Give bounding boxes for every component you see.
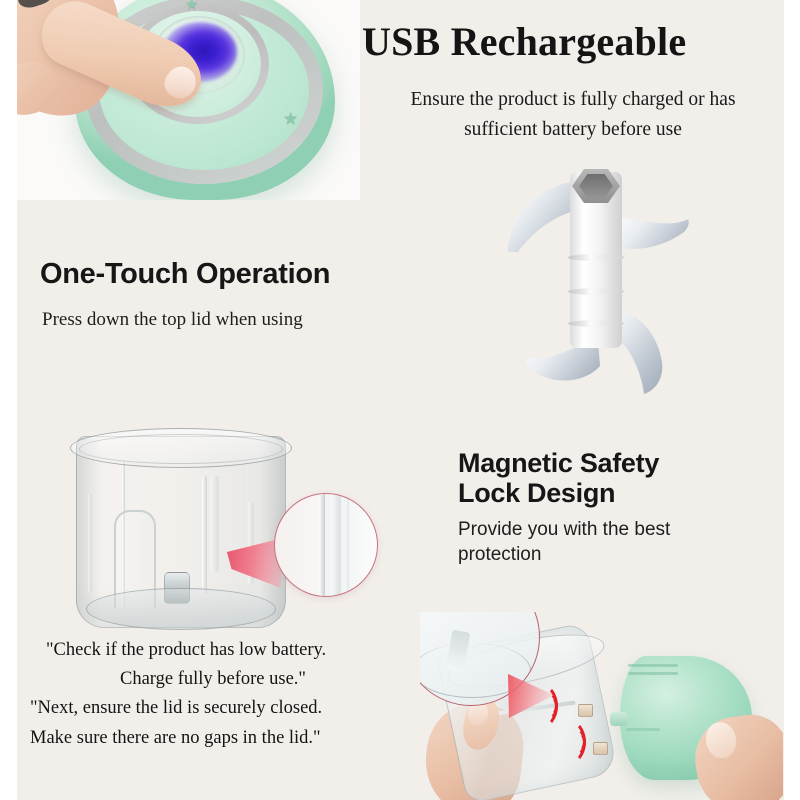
blade-upper-right	[610, 214, 690, 260]
photo-transparent-bowl	[52, 420, 382, 645]
magnified-wall-line	[331, 494, 341, 596]
magnified-wall-line	[345, 494, 349, 596]
right-edge-strip	[784, 0, 800, 800]
pressing-hand	[17, 0, 193, 146]
magnetic-title-line-1: Magnetic Safety	[458, 448, 659, 478]
motor-ridge	[626, 728, 660, 731]
magnified-wall-line	[319, 494, 325, 596]
bowl-rib	[210, 476, 219, 572]
one-touch-operation-subtitle: Press down the top lid when using	[42, 308, 372, 333]
blade-band	[568, 254, 624, 261]
left-edge-strip	[0, 0, 17, 800]
usb-rechargeable-title: USB Rechargeable	[362, 18, 686, 65]
infographic-page: ★ ★ USB Rechargeable Ensure the product …	[0, 0, 800, 800]
blade-band	[568, 320, 624, 327]
photo-hand-pressing-lid: ★ ★	[17, 0, 360, 200]
bowl-base	[86, 588, 276, 630]
magnetic-wave-icon	[556, 724, 586, 766]
magnetic-safety-lock-title: Magnetic Safety Lock Design	[458, 448, 659, 508]
magnetic-safety-lock-subtitle: Provide you with the best protection	[458, 518, 708, 567]
photo-blade-assembly	[480, 160, 720, 400]
magnetic-title-line-2: Lock Design	[458, 478, 659, 508]
motor-seam	[628, 672, 678, 675]
blade-band	[568, 288, 624, 295]
battery-note-line-3: "Next, ensure the lid is securely closed…	[28, 694, 398, 723]
star-icon: ★	[283, 110, 298, 127]
usb-subtitle-line-2: sufficient battery before use	[368, 115, 778, 145]
battery-note-line-4: Make sure there are no gaps in the lid."	[28, 724, 398, 753]
usb-rechargeable-subtitle: Ensure the product is fully charged or h…	[368, 85, 778, 145]
battery-and-lid-note: "Check if the product has low battery. C…	[28, 636, 398, 753]
usb-subtitle-line-1: Ensure the product is fully charged or h…	[368, 85, 778, 115]
motor-side-knob	[610, 712, 628, 726]
magnifier-callout-circle	[274, 493, 378, 597]
motor-seam	[628, 664, 678, 667]
bowl-rib	[202, 476, 207, 594]
magnet-contact	[593, 742, 608, 755]
magnet-contact	[578, 704, 593, 717]
battery-note-line-2: Charge fully before use."	[28, 665, 398, 694]
photo-magnetic-lock-demo	[420, 612, 783, 800]
one-touch-operation-title: One-Touch Operation	[40, 258, 330, 290]
battery-note-line-1: "Check if the product has low battery.	[28, 636, 398, 665]
bowl-rim-inner	[79, 434, 283, 464]
bowl-rib	[88, 494, 92, 592]
